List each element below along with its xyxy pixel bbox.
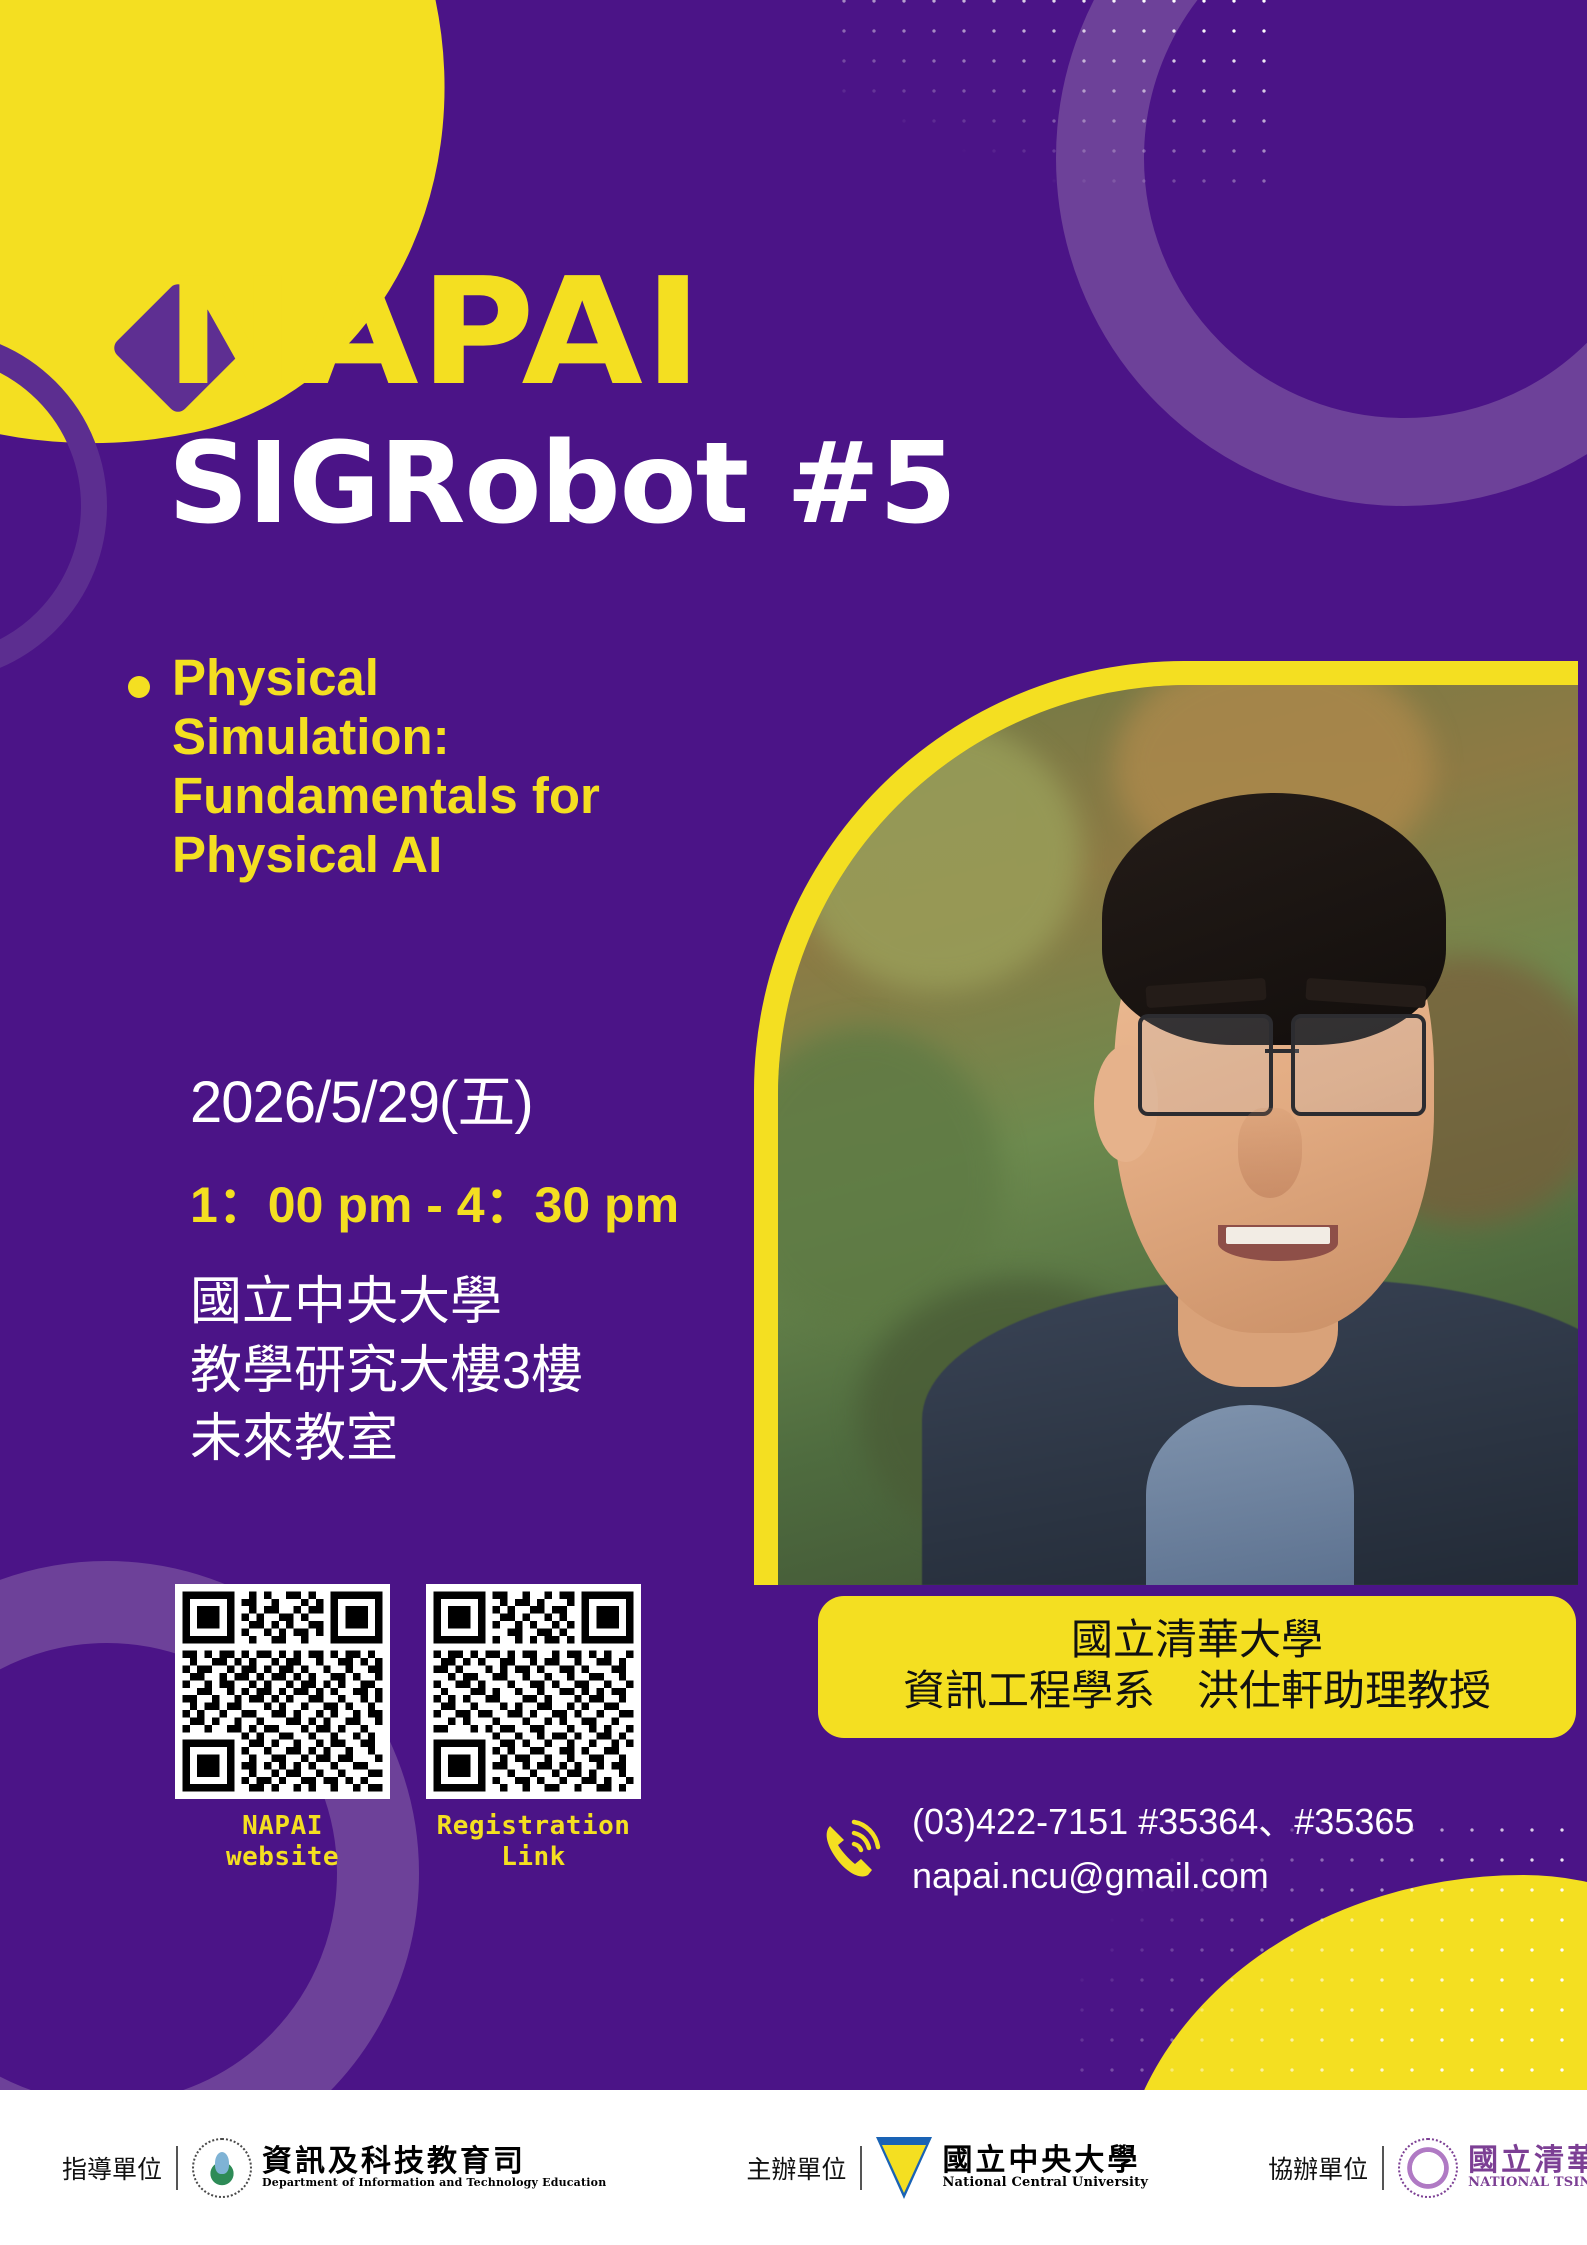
nthu-seal-icon (1398, 2138, 1458, 2198)
speaker-name: 資訊工程學系 洪仕軒助理教授 (832, 1665, 1562, 1716)
poster-content: NAPAI SIGRobot #5 Physical Simulation: F… (0, 0, 1587, 2245)
moe-logo-cn: 資訊及科技教育司 (262, 2144, 526, 2179)
speaker-banner: 國立清華大學 資訊工程學系 洪仕軒助理教授 (818, 1596, 1576, 1738)
page-title: NAPAI (165, 258, 703, 406)
page-subtitle: SIGRobot #5 (168, 428, 956, 540)
qr-code-row: NAPAI website (175, 1584, 641, 1872)
moe-logo: 資訊及科技教育司 Department of Information and T… (192, 2138, 606, 2198)
ncu-logo-text: 國立中央大學 National Central University (942, 2145, 1148, 2190)
poster-root: NAPAI SIGRobot #5 Physical Simulation: F… (0, 0, 1587, 2245)
moe-logo-en: Department of Information and Technology… (262, 2177, 606, 2189)
contact-lines: (03)422-7151 #35364、#35365 napai.ncu@gma… (912, 1795, 1414, 1903)
qr-item-napai-website[interactable]: NAPAI website (175, 1584, 390, 1872)
contact-email: napai.ncu@gmail.com (912, 1849, 1414, 1903)
ncu-logo-cn: 國立中央大學 (942, 2143, 1140, 2178)
footer-group-organizer: 主辦單位 國立中央大學 National Central University (746, 2137, 1148, 2199)
moe-logo-text: 資訊及科技教育司 Department of Information and T… (262, 2146, 606, 2189)
event-date: 2026/5/29(五) (190, 1074, 533, 1132)
event-time: 1：00 pm - 4：30 pm (190, 1180, 679, 1230)
ncu-logo-en: National Central University (942, 2176, 1148, 2190)
ncu-triangle-icon (876, 2137, 932, 2199)
footer-group-coorganizer: 協辦單位 國立清華大學 NATIONAL TSING HUA UNIVERSIT… (1268, 2138, 1587, 2198)
speaker-photo-frame (778, 685, 1578, 1585)
nthu-logo-cn: 國立清華大學 (1468, 2143, 1587, 2178)
topic-block: Physical Simulation: Fundamentals for Ph… (128, 648, 648, 885)
nthu-logo-en: NATIONAL TSING HUA UNIVERSITY (1468, 2176, 1587, 2190)
topic-title: Physical Simulation: Fundamentals for Ph… (172, 648, 648, 885)
footer-label-coorganizer: 協辦單位 (1268, 2150, 1368, 2186)
speaker-organization: 國立清華大學 (832, 1614, 1562, 1665)
contact-phone: (03)422-7151 #35364、#35365 (912, 1795, 1414, 1849)
event-venue: 國立中央大學 教學研究大樓3樓 未來教室 (190, 1268, 583, 1474)
phone-icon (820, 1814, 886, 1884)
divider (860, 2146, 862, 2190)
qr-label-napai-website: NAPAI website (175, 1811, 390, 1872)
nthu-logo: 國立清華大學 NATIONAL TSING HUA UNIVERSITY (1398, 2138, 1587, 2198)
footer-group-advisor: 指導單位 資訊及科技教育司 Department of Information … (62, 2138, 606, 2198)
moe-seal-icon (192, 2138, 252, 2198)
footer-sponsors: 指導單位 資訊及科技教育司 Department of Information … (0, 2090, 1587, 2245)
qr-item-registration-link[interactable]: Registration Link (426, 1584, 641, 1872)
footer-label-advisor: 指導單位 (62, 2150, 162, 2186)
divider (176, 2146, 178, 2190)
ncu-logo: 國立中央大學 National Central University (876, 2137, 1148, 2199)
divider (1382, 2146, 1384, 2190)
qr-code-icon[interactable] (426, 1584, 641, 1799)
contact-block: (03)422-7151 #35364、#35365 napai.ncu@gma… (820, 1795, 1414, 1903)
footer-label-organizer: 主辦單位 (746, 2150, 846, 2186)
qr-label-registration-link: Registration Link (426, 1811, 641, 1872)
nthu-logo-text: 國立清華大學 NATIONAL TSING HUA UNIVERSITY (1468, 2145, 1587, 2190)
speaker-portrait-image (778, 685, 1578, 1585)
qr-code-icon[interactable] (175, 1584, 390, 1799)
bullet-dot-icon (128, 676, 150, 698)
